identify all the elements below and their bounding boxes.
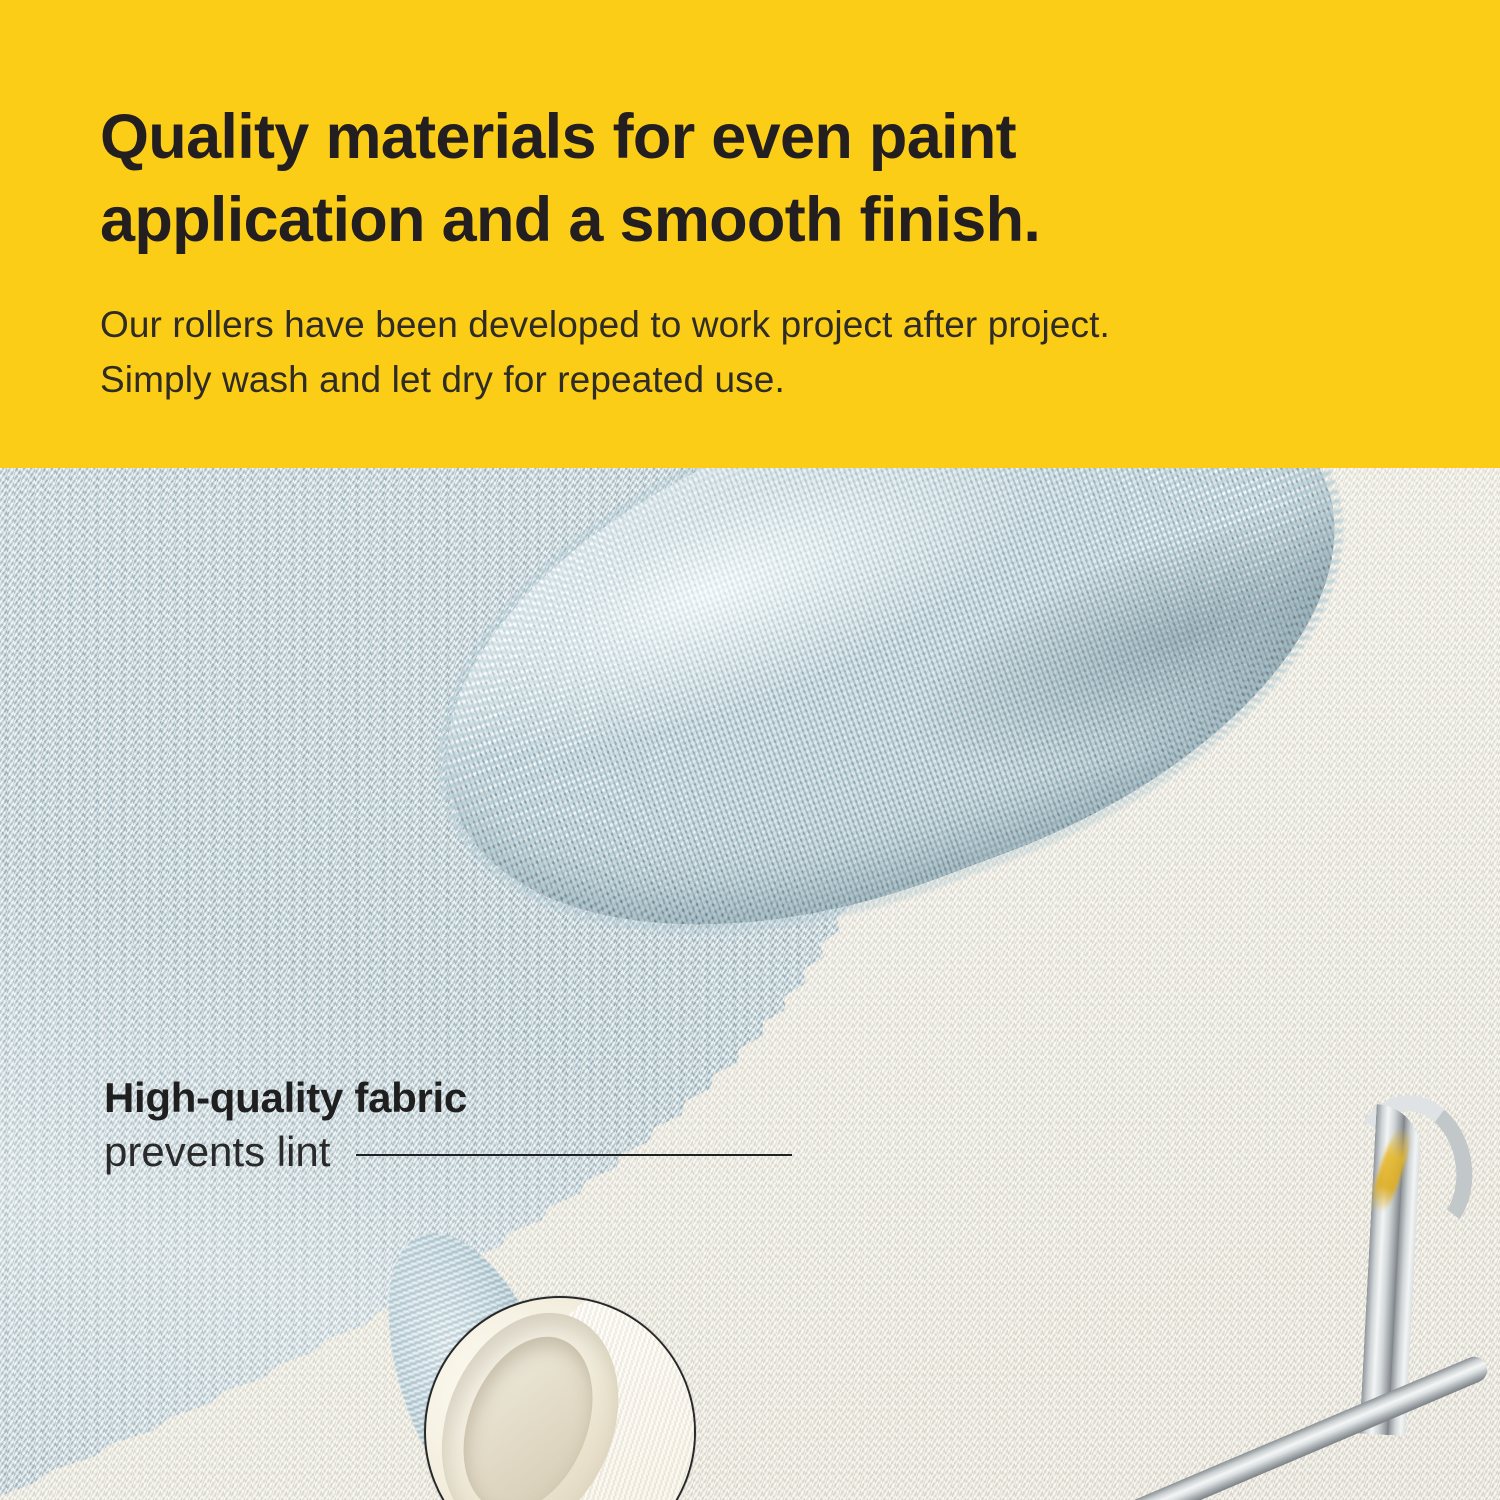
headline-banner: Quality materials for even paint applica… (0, 0, 1500, 468)
subhead-line-2: Simply wash and let dry for repeated use… (100, 353, 1390, 408)
subhead-line-1: Our rollers have been developed to work … (100, 298, 1390, 353)
callout-fabric-subtitle-row: prevents lint (104, 1128, 792, 1176)
callout-fabric: High-quality fabric prevents lint (104, 1074, 792, 1177)
headline-text: Quality materials for even paint applica… (100, 96, 1210, 262)
subhead-text: Our rollers have been developed to work … (100, 298, 1390, 408)
product-feature-poster: Quality materials for even paint applica… (0, 0, 1500, 1500)
leader-line-horizontal (356, 1154, 792, 1156)
product-photo: High-quality fabric prevents lint Polypr… (0, 468, 1500, 1500)
callout-fabric-subtitle: prevents lint (104, 1128, 330, 1176)
callout-fabric-title: High-quality fabric (104, 1074, 792, 1122)
